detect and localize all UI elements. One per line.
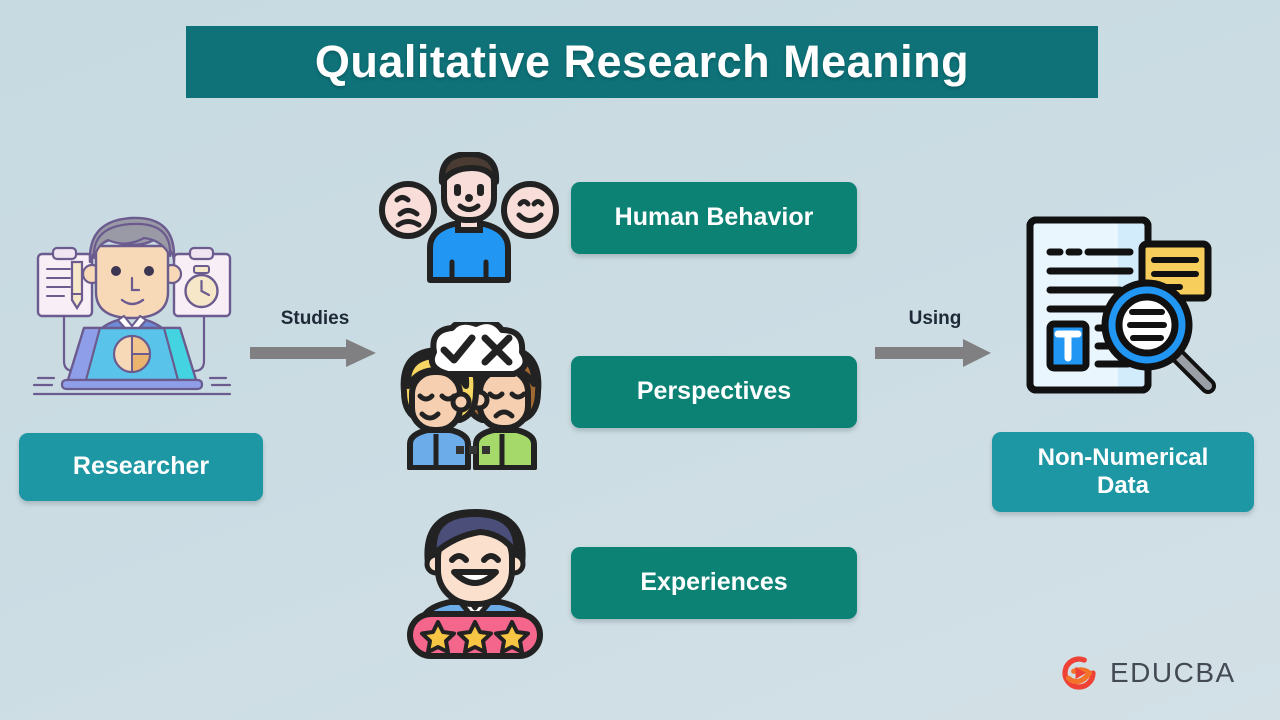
perspectives-label: Perspectives (637, 377, 791, 407)
experiences-box[interactable]: Experiences (571, 547, 857, 619)
studies-label: Studies (250, 308, 380, 330)
two-people-thought-cloud-icon (390, 322, 562, 470)
experiences-label: Experiences (640, 568, 787, 598)
researcher-label-box[interactable]: Researcher (19, 433, 263, 501)
using-label: Using (875, 308, 995, 330)
non-numerical-data-label-line2: Data (1097, 472, 1149, 500)
document-magnifier-icon (1012, 206, 1230, 414)
educba-swirl-logo-icon (1058, 652, 1100, 694)
non-numerical-data-box[interactable]: Non-Numerical Data (992, 432, 1254, 512)
right-arrow-icon (250, 337, 380, 369)
title-banner: Qualitative Research Meaning (186, 26, 1098, 98)
educba-logo[interactable]: EDUCBA (1058, 652, 1236, 694)
human-behavior-label: Human Behavior (615, 203, 814, 233)
studies-connector: Studies (250, 308, 380, 369)
person-star-rating-icon (406, 502, 544, 660)
people-emotions-icon (378, 152, 560, 284)
non-numerical-data-label-line1: Non-Numerical (1038, 444, 1209, 472)
educba-logo-text: EDUCBA (1110, 657, 1236, 689)
infographic-canvas: Qualitative Research Meaning (0, 0, 1280, 720)
using-connector: Using (875, 308, 995, 369)
page-title: Qualitative Research Meaning (315, 36, 969, 88)
human-behavior-box[interactable]: Human Behavior (571, 182, 857, 254)
perspectives-box[interactable]: Perspectives (571, 356, 857, 428)
researcher-label: Researcher (73, 452, 209, 482)
right-arrow-icon (875, 337, 995, 369)
researcher-at-laptop-icon (22, 196, 244, 411)
